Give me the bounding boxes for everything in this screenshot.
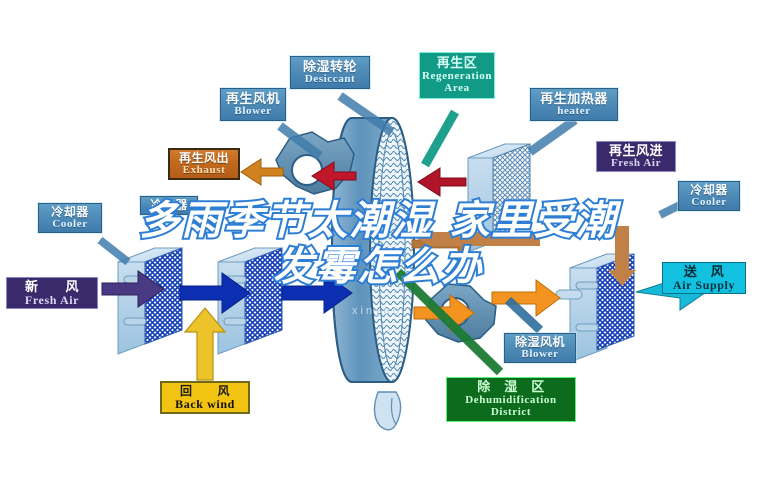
label-cn: 再生风机 — [223, 92, 283, 106]
label-cn: 除湿风机 — [507, 336, 573, 349]
label-regen-area: 再生区 Regeneration Area — [419, 52, 495, 99]
label-cn: 再生风出 — [172, 152, 236, 165]
label-en: Fresh Air — [9, 294, 95, 307]
label-cn: 除湿转轮 — [293, 60, 367, 74]
label-dehum-blower: 除湿风机 Blower — [504, 333, 576, 363]
label-cooler-right: 冷却器 Cooler — [678, 181, 740, 211]
dehumidifier-schematic: 除湿转轮 Desiccant 再生风机 Blower 再生区 Regenerat… — [0, 0, 757, 488]
label-cooler-left: 冷却器 Cooler — [38, 203, 102, 233]
label-exhaust: 再生风出 Exhaust — [168, 148, 240, 180]
cooler-unit-left — [118, 248, 182, 354]
label-cn: 新 风 — [9, 280, 95, 294]
label-cn: 再生风进 — [599, 144, 673, 158]
label-cn: 再生加热器 — [533, 92, 615, 106]
label-cn: 送 风 — [665, 265, 743, 279]
label-regen-heater: 再生加热器 heater — [530, 88, 618, 121]
label-en: Blower — [223, 106, 283, 118]
label-en: Cooler — [41, 219, 99, 231]
label-en: Dehumidification District — [449, 394, 573, 419]
label-cn: 冷却器 — [681, 184, 737, 197]
label-en: Exhaust — [172, 165, 236, 177]
label-desiccant-wheel: 除湿转轮 Desiccant — [290, 56, 370, 89]
label-dehum-district: 除 湿 区 Dehumidification District — [446, 377, 576, 422]
label-cn: 再生区 — [422, 56, 492, 70]
label-cooler-mid: 冷却器 — [140, 196, 198, 215]
label-en: Cooler — [681, 197, 737, 209]
label-fresh-air: 新 风 Fresh Air — [6, 277, 98, 309]
label-regen-fresh-air: 再生风进 Fresh Air — [596, 141, 676, 172]
label-back-wind: 回 风 Back wind — [160, 381, 250, 414]
label-cn: 回 风 — [164, 385, 246, 398]
label-cn: 冷却器 — [41, 206, 99, 219]
label-en: Desiccant — [293, 74, 367, 86]
label-en: Blower — [507, 349, 573, 361]
watermark: xinyao — [352, 305, 402, 317]
label-regen-blower: 再生风机 Blower — [220, 88, 286, 121]
schematic-artwork — [0, 0, 757, 488]
label-en: Fresh Air — [599, 158, 673, 170]
label-en: heater — [533, 106, 615, 118]
label-cn: 除 湿 区 — [449, 380, 573, 394]
label-air-supply: 送 风 Air Supply — [662, 262, 746, 294]
label-en: Back wind — [164, 398, 246, 411]
label-en: Regeneration Area — [422, 70, 492, 95]
label-cn: 冷却器 — [143, 199, 195, 212]
label-en: Air Supply — [665, 279, 743, 292]
